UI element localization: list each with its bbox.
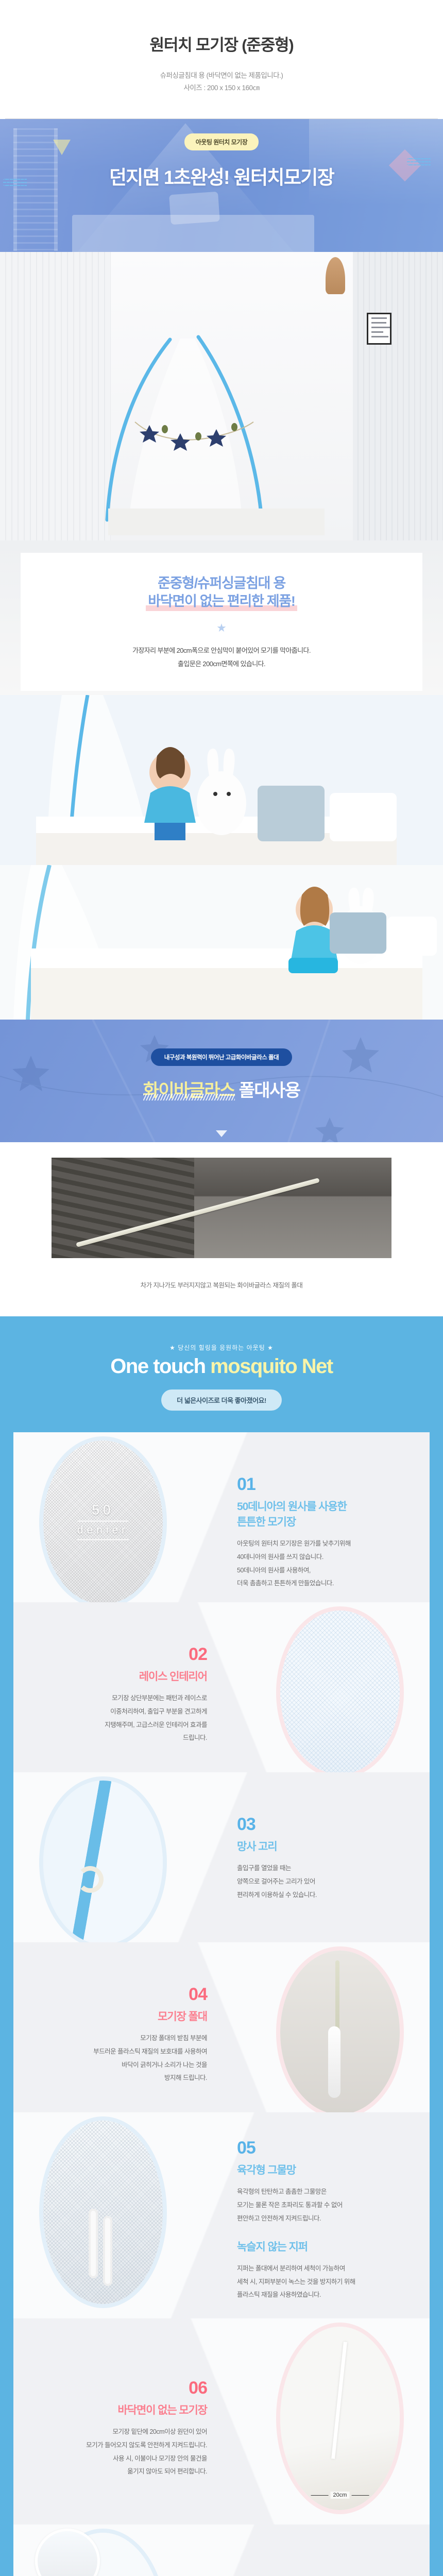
feature-image-01: 50 denier <box>43 1440 163 1602</box>
product-detail-page: 원터치 모기장 (준중형) 슈퍼싱글침대 용 (바닥면이 없는 제품입니다.) … <box>0 0 443 2576</box>
feature-number-01: 01 <box>237 1476 407 1493</box>
page-title: 원터치 모기장 (준중형) <box>0 32 443 55</box>
chevron-down-icon <box>216 1130 227 1137</box>
feature-inset-image-07 <box>35 2529 100 2576</box>
girl-on-bed-illustration <box>0 865 443 1020</box>
callout-line-2: 바닥면이 없는 편리한 제품! <box>148 592 295 611</box>
feature-number-05: 05 <box>237 2139 407 2157</box>
room-photo-1 <box>0 252 443 540</box>
onetouch-title: One touch mosquito Net <box>0 1355 443 1378</box>
child-with-tent-illustration <box>0 695 443 865</box>
zipper-icon <box>89 2209 98 2278</box>
callout-desc-line-2: 출입문은 200cm면쪽에 있습니다. <box>21 657 422 670</box>
feature-title-04: 모기장 폴대 <box>37 2008 207 2024</box>
feature-body-05b: 지퍼는 폴대에서 분리하여 세척이 가능하여 세척 시, 지퍼부분이 녹스는 것… <box>237 2262 407 2302</box>
room-photo-3 <box>0 865 443 1020</box>
fiberglass-headline: 화이바글라스 폴대사용 <box>0 1076 443 1101</box>
feature-title-05: 육각형 그물망 <box>237 2162 407 2177</box>
feature-row-03: 03 망사 고리 출입구를 열었을 때는 양쪽으로 걸어주는 고리가 있어 편리… <box>13 1772 430 1942</box>
feature-image-06: 20cm <box>280 2327 400 2510</box>
onetouch-badge: 더 넓은사이즈로 더욱 좋아졌어요! <box>161 1389 282 1411</box>
feature-row-05: 05 육각형 그물망 육각형의 탄탄하고 촘촘한 그물망은 모기는 물론 작은 … <box>13 2112 430 2318</box>
fiberglass-banner: 내구성과 복원력이 뛰어난 고급화이바글라스 폴대 화이바글라스 폴대사용 <box>0 1020 443 1142</box>
feature-title-01: 50데니아의 원사를 사용한 튼튼한 모기장 <box>237 1498 407 1529</box>
feature-row-07: 07 바닥면이 있는 모기장 바닥면까지 모기장처리된 제품으로, 잠버릇이 심… <box>13 2524 430 2576</box>
product-subtitle: 슈퍼싱글침대 용 (바닥면이 없는 제품입니다.) 사이즈 : 200 x 15… <box>0 70 443 94</box>
room-photo-2 <box>0 695 443 865</box>
callout-card: 준중형/슈퍼싱글침대 용 바닥면이 없는 편리한 제품! ★ 가장자리 부분에 … <box>21 553 422 691</box>
features-panel: 50 denier 01 50데니아의 원사를 사용한 튼튼한 모기장 아웃팅의… <box>13 1432 430 2576</box>
tent-illustration <box>0 252 443 540</box>
feature-text-05: 05 육각형 그물망 육각형의 탄탄하고 촘촘한 그물망은 모기는 물론 작은 … <box>237 2139 407 2302</box>
feature-image-05 <box>43 2121 163 2304</box>
star-divider-icon: ★ <box>21 621 422 635</box>
fiberglass-headline-yellow: 화이바글라스 <box>143 1076 235 1101</box>
fiberglass-headline-white: 폴대사용 <box>235 1081 300 1100</box>
feature-number-06: 06 <box>37 2379 207 2397</box>
zipper-icon-2 <box>103 2216 112 2285</box>
feature-text-01: 01 50데니아의 원사를 사용한 튼튼한 모기장 아웃팅의 원터치 모기장은 … <box>237 1476 407 1590</box>
onetouch-title-yellow: mosquito Net <box>210 1355 333 1378</box>
denier-number: 50 <box>77 1502 129 1518</box>
feature-row-02: 02 레이스 인테리어 모기장 상단부분에는 패턴과 레이스로 이중처리하여, … <box>13 1602 430 1772</box>
product-bed-type: 슈퍼싱글침대 용 (바닥면이 없는 제품입니다.) <box>0 70 443 82</box>
feature-text-06: 06 바닥면이 없는 모기장 모기장 밑단에 20cm이상 원던이 있어 모기가… <box>37 2379 207 2479</box>
feature-row-04: 04 모기장 폴대 모기장 폴대의 받침 부분에 부드러운 플라스틱 재질의 보… <box>13 1942 430 2112</box>
dimension-label-06: 20cm <box>331 2492 350 2499</box>
feature-title-03: 망사 고리 <box>237 1838 407 1854</box>
durability-demo-section: 차가 지나가도 부러지지않고 복원되는 화이바글라스 재질의 폴대 <box>0 1142 443 1316</box>
feature-row-06: 20cm 06 바닥면이 없는 모기장 모기장 밑단에 20cm이상 원던이 있… <box>13 2318 430 2524</box>
feature-title-05b: 녹슬지 않는 지퍼 <box>237 2239 407 2254</box>
mesh-hook-icon <box>77 1866 104 1893</box>
onetouch-title-white: One touch <box>110 1355 210 1378</box>
hero-badge: 아웃팅 원터치 모기장 <box>184 133 259 150</box>
fiberglass-badge: 내구성과 복원력이 뛰어난 고급화이바글라스 폴대 <box>151 1048 292 1066</box>
feature-body-04: 모기장 폴대의 받침 부분에 부드러운 플라스틱 재질의 보호대를 사용하여 바… <box>37 2032 207 2085</box>
feature-body-02: 모기장 상단부분에는 패턴과 레이스로 이중처리하여, 출입구 부분을 견고하게… <box>37 1692 207 1745</box>
tire-pole-photo <box>52 1158 391 1258</box>
callout-desc-line-1: 가장자리 부분에 20cm폭으로 안심막이 붙어있어 모기를 막아줍니다. <box>21 644 422 657</box>
tire-tread <box>52 1158 194 1258</box>
feature-text-03: 03 망사 고리 출입구를 열었을 때는 양쪽으로 걸어주는 고리가 있어 편리… <box>237 1816 407 1902</box>
denier-unit: denier <box>77 1524 129 1537</box>
onetouch-header: ★ 당신의 힐링을 응원하는 아웃팅 ★ One touch mosquito … <box>0 1343 443 1411</box>
feature-text-02: 02 레이스 인테리어 모기장 상단부분에는 패턴과 레이스로 이중처리하여, … <box>37 1646 207 1745</box>
feature-image-02 <box>280 1611 400 1772</box>
feature-number-04: 04 <box>37 1986 207 2003</box>
callout-photo: 준중형/슈퍼싱글침대 용 바닥면이 없는 편리한 제품! ★ 가장자리 부분에 … <box>0 540 443 695</box>
callout-description: 가장자리 부분에 20cm폭으로 안심막이 붙어있어 모기를 막아줍니다. 출입… <box>21 644 422 670</box>
feature-body-05: 육각형의 탄탄하고 촘촘한 그물망은 모기는 물론 작은 초파리도 통과할 수 … <box>237 2185 407 2225</box>
feature-row-01: 50 denier 01 50데니아의 원사를 사용한 튼튼한 모기장 아웃팅의… <box>13 1432 430 1602</box>
feature-image-03 <box>43 1781 163 1942</box>
feature-title-06: 바닥면이 없는 모기장 <box>37 2402 207 2417</box>
onetouch-arc-text: ★ 당신의 힐링을 응원하는 아웃팅 ★ <box>0 1343 443 1352</box>
feature-title-02: 레이스 인테리어 <box>37 1668 207 1684</box>
feature-body-06: 모기장 밑단에 20cm이상 원던이 있어 모기가 들어오지 않도록 안전하게 … <box>37 2426 207 2479</box>
product-title-section: 원터치 모기장 (준중형) 슈퍼싱글침대 용 (바닥면이 없는 제품입니다.) … <box>0 0 443 119</box>
feature-body-03: 출입구를 열었을 때는 양쪽으로 걸어주는 고리가 있어 편리하게 이용하실 수… <box>237 1862 407 1902</box>
hero-pillow-shape <box>169 192 220 225</box>
hero-headline: 던지면 1초완성! 원터치모기장 <box>0 162 443 190</box>
callout-line-1: 준중형/슈퍼싱글침대 용 <box>21 574 422 592</box>
hero-banner: 아웃팅 원터치 모기장 던지면 1초완성! 원터치모기장 <box>0 119 443 252</box>
product-size: 사이즈 : 200 x 150 x 160㎝ <box>0 82 443 94</box>
durability-caption: 차가 지나가도 부러지지않고 복원되는 화이바글라스 재질의 폴대 <box>0 1280 443 1316</box>
feature-number-03: 03 <box>237 1816 407 1833</box>
feature-image-04 <box>280 1951 400 2112</box>
denier-badge: 50 denier <box>77 1502 129 1543</box>
feature-body-01: 아웃팅의 원터치 모기장은 원가를 낮추기위해 40데니아의 원사를 쓰지 않습… <box>237 1537 407 1590</box>
onetouch-feature-section: ★ 당신의 힐링을 응원하는 아웃팅 ★ One touch mosquito … <box>0 1316 443 2576</box>
feature-number-02: 02 <box>37 1646 207 1663</box>
feature-text-04: 04 모기장 폴대 모기장 폴대의 받침 부분에 부드러운 플라스틱 재질의 보… <box>37 1986 207 2085</box>
